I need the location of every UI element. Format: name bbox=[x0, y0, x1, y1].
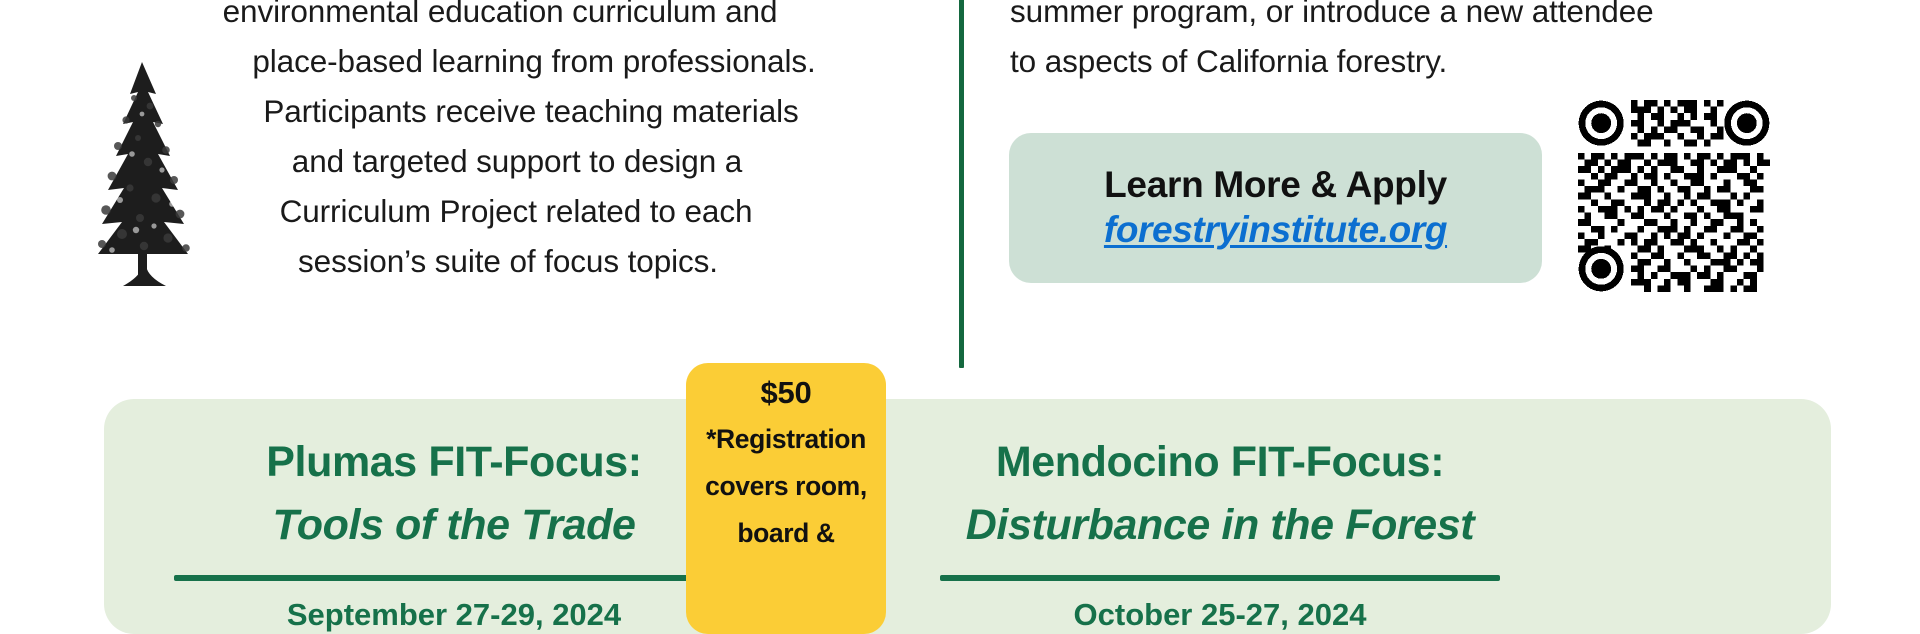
price-badge: $50 *Registration covers room, board & bbox=[686, 363, 886, 634]
sessions-panel: Plumas FIT-Focus: Tools of the Trade Sep… bbox=[104, 399, 1831, 634]
learn-more-apply-box[interactable]: Learn More & Apply forestryinstitute.org bbox=[1009, 133, 1542, 283]
left-line-3: Participants receive teaching materials bbox=[60, 86, 940, 136]
top-section: environmental education curriculum and p… bbox=[0, 0, 1920, 395]
price-note-line-3: board & bbox=[686, 510, 886, 557]
column-divider bbox=[959, 0, 964, 368]
right-line-2: to aspects of California forestry. bbox=[1010, 36, 1890, 86]
apply-box-title: Learn More & Apply bbox=[1104, 164, 1447, 207]
right-paragraph: summer program, or introduce a new atten… bbox=[1010, 0, 1890, 86]
left-line-1: environmental education curriculum and bbox=[60, 0, 940, 36]
qr-code-icon[interactable] bbox=[1578, 100, 1770, 292]
forestryinstitute-link[interactable]: forestryinstitute.org bbox=[1104, 209, 1447, 252]
mendocino-divider-rule bbox=[940, 575, 1500, 581]
left-line-4: and targeted support to design a bbox=[60, 136, 940, 186]
price-note-line-1: *Registration bbox=[686, 416, 886, 463]
mendocino-date: October 25-27, 2024 bbox=[870, 597, 1570, 633]
price-note: *Registration covers room, board & bbox=[686, 416, 886, 557]
left-line-5: Curriculum Project related to each bbox=[60, 186, 940, 236]
price-amount: $50 bbox=[686, 377, 886, 408]
left-line-2: place-based learning from professionals. bbox=[60, 36, 940, 86]
left-paragraph: environmental education curriculum and p… bbox=[60, 0, 940, 286]
right-line-1: summer program, or introduce a new atten… bbox=[1010, 0, 1890, 36]
session-mendocino: Mendocino FIT-Focus: Disturbance in the … bbox=[870, 399, 1570, 633]
left-line-6: session’s suite of focus topics. bbox=[60, 236, 940, 286]
flyer-page: environmental education curriculum and p… bbox=[0, 0, 1920, 634]
price-note-line-2: covers room, bbox=[686, 463, 886, 510]
plumas-divider-rule bbox=[174, 575, 734, 581]
mendocino-heading: Mendocino FIT-Focus: bbox=[870, 441, 1570, 484]
mendocino-subheading: Disturbance in the Forest bbox=[870, 504, 1570, 547]
